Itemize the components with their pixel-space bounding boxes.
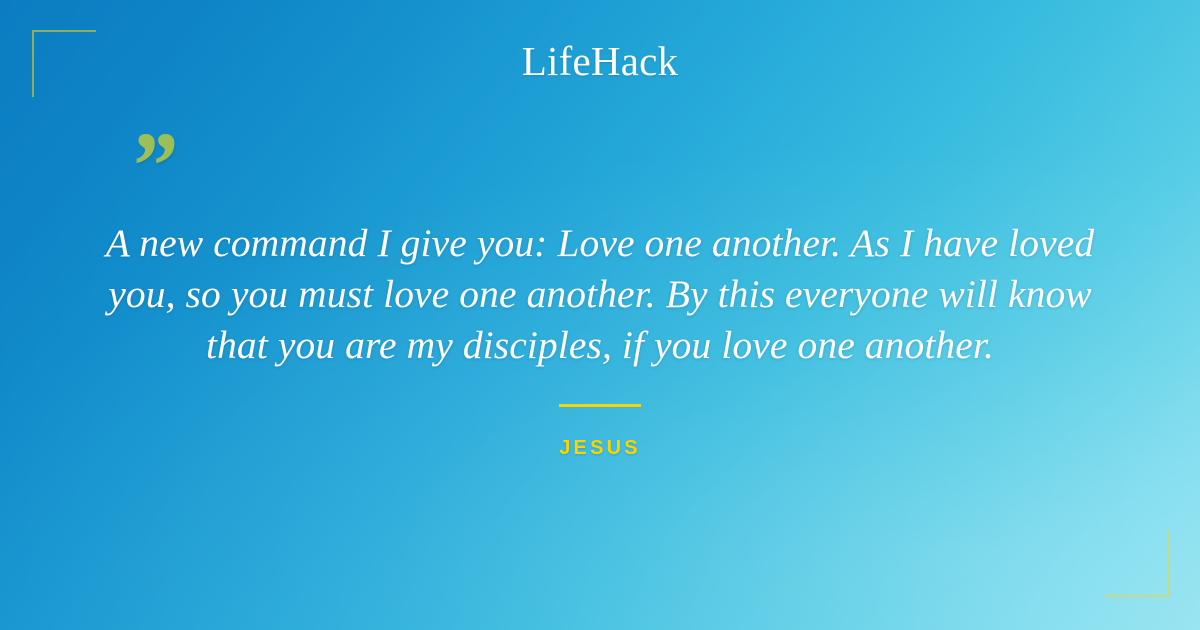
- attribution-author: JESUS: [0, 437, 1200, 460]
- attribution-divider: [559, 404, 641, 407]
- quotation-mark-icon: ”: [128, 118, 176, 214]
- attribution: JESUS: [0, 404, 1200, 460]
- quote-block: A new command I give you: Love one anoth…: [0, 218, 1200, 371]
- quote-text: A new command I give you: Love one anoth…: [92, 218, 1108, 371]
- corner-bracket-bottom-right-icon: [1106, 530, 1170, 597]
- brand-logo: LifeHack: [0, 38, 1200, 84]
- quote-card: LifeHack ” A new command I give you: Lov…: [0, 0, 1200, 630]
